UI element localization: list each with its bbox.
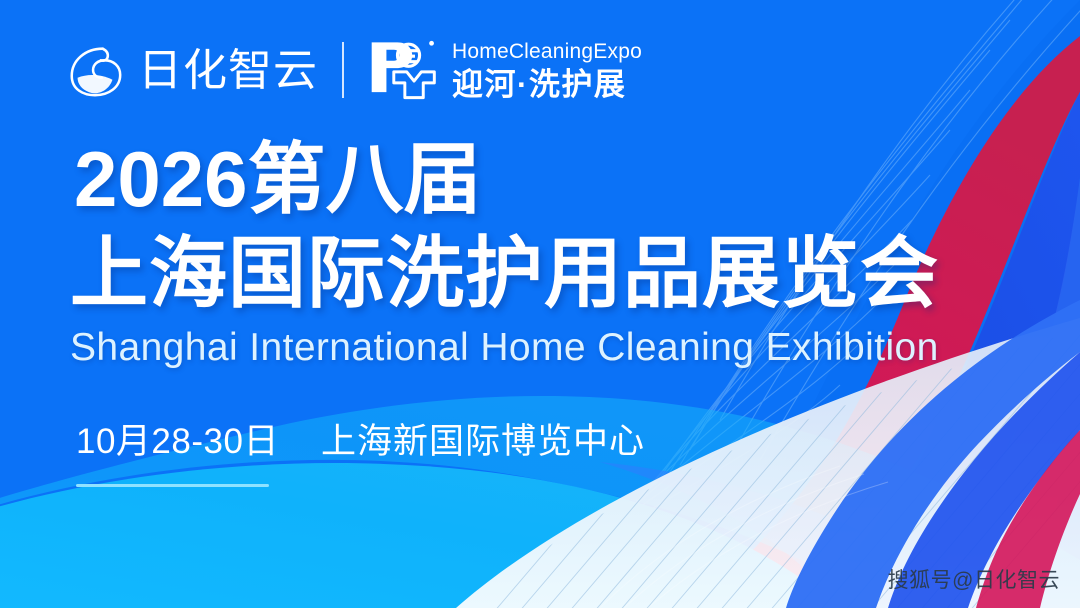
- expo-name-en: HomeCleaningExpo: [452, 41, 642, 62]
- pe-monogram-icon: [366, 35, 440, 105]
- logo-lockup: 日化智云 HomeCleaningExpo 迎河·洗护展: [64, 28, 642, 112]
- event-venue: 上海新国际博览中心: [321, 424, 645, 459]
- swan-logo-icon: [64, 39, 126, 101]
- vertical-divider-icon: [342, 42, 344, 98]
- event-date: 10月28-30日: [76, 424, 279, 459]
- headline-subtitle-en: Shanghai International Home Cleaning Exh…: [70, 328, 939, 367]
- expo-name-block: HomeCleaningExpo 迎河·洗护展: [452, 41, 642, 100]
- brand-name-cn: 日化智云: [138, 49, 318, 93]
- event-info-row: 10月28-30日 上海新国际博览中心: [76, 424, 645, 459]
- headline-line-2: 上海国际洗护用品展览会: [70, 234, 939, 312]
- headline-block: 2026第八届 上海国际洗护用品展览会 Shanghai Internation…: [70, 140, 939, 367]
- info-underline-rule: [76, 484, 269, 487]
- expo-name-cn: 迎河·洗护展: [452, 69, 642, 100]
- headline-line-1: 2026第八届: [74, 140, 939, 218]
- event-info-block: 10月28-30日 上海新国际博览中心: [76, 424, 645, 487]
- exhibition-poster: 日化智云 HomeCleaningExpo 迎河·洗护展 2026第八届 上海国…: [0, 0, 1080, 608]
- source-watermark: 搜狐号@日化智云: [888, 564, 1060, 594]
